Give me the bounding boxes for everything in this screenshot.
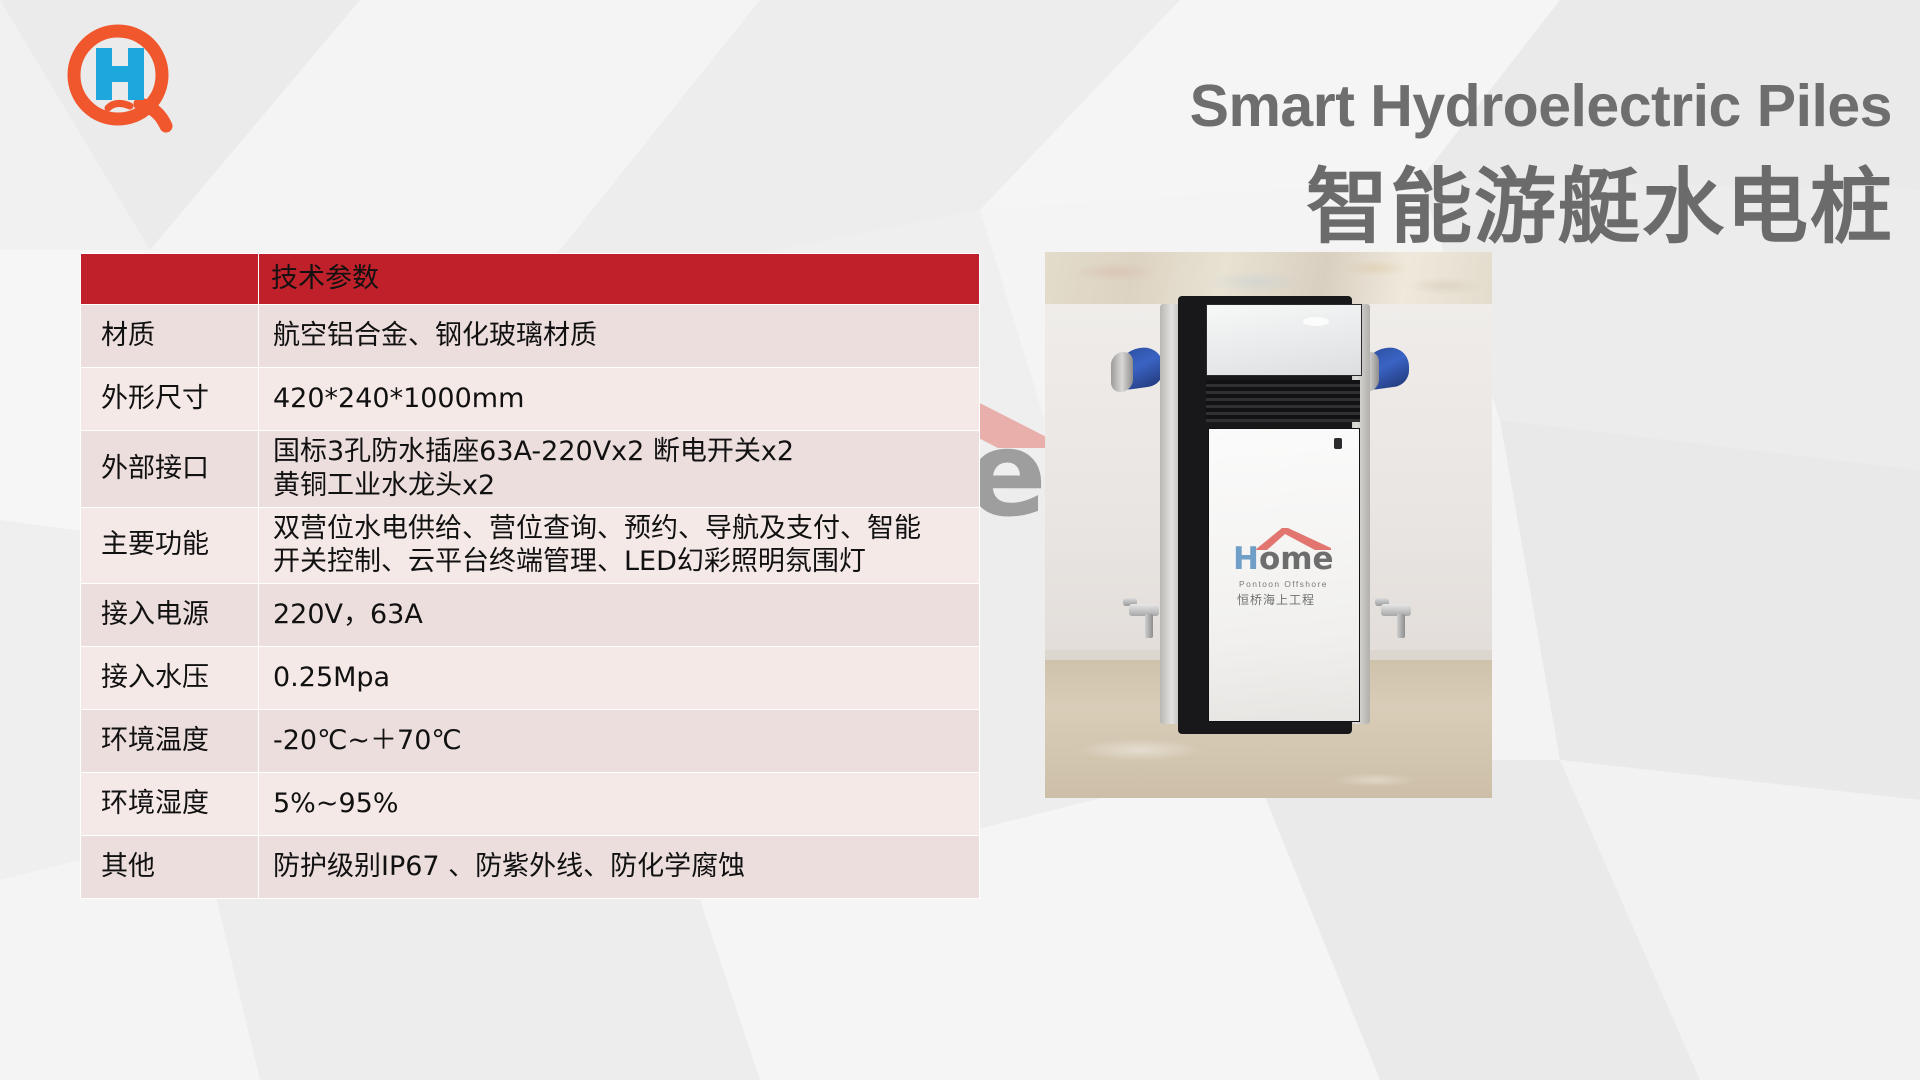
table-row: 主要功能双营位水电供给、营位查询、预约、导航及支付、智能 开关控制、云平台终端管… xyxy=(81,507,980,584)
pile-door-panel: Home Pontoon Offshore 恒桥海上工程 xyxy=(1208,428,1360,722)
table-cell-value-text: 国标3孔防水插座63A-220Vx2 断电开关x2 黄铜工业水龙头x2 xyxy=(273,436,794,501)
table-row: 外部接口国标3孔防水插座63A-220Vx2 断电开关x2 黄铜工业水龙头x2 xyxy=(81,431,980,508)
table-cell-key: 主要功能 xyxy=(81,507,259,584)
table-cell-key: 环境湿度 xyxy=(81,773,259,836)
table-row: 环境温度-20℃~＋70℃ xyxy=(81,710,980,773)
table-row: 其他防护级别IP67 、防紫外线、防化学腐蚀 xyxy=(81,836,980,899)
table-cell-value-text: 5%~95% xyxy=(273,788,398,819)
table-row: 环境湿度5%~95% xyxy=(81,773,980,836)
pile-logo-word: ome xyxy=(1259,541,1334,577)
pile-frame: Home Pontoon Offshore 恒桥海上工程 xyxy=(1178,296,1352,734)
table-cell-value-text: -20℃~＋70℃ xyxy=(273,725,462,756)
table-cell-key: 其他 xyxy=(81,836,259,899)
page-title-english: Smart Hydroelectric Piles xyxy=(1190,72,1892,140)
pile-vent-louvers xyxy=(1206,380,1360,422)
pile-door-lock xyxy=(1334,438,1342,449)
spec-table: 技术参数 材质航空铝合金、钢化玻璃材质外形尺寸420*240*1000mm外部接… xyxy=(80,253,980,899)
table-header-blank xyxy=(81,254,259,305)
table-cell-key: 接入水压 xyxy=(81,647,259,710)
table-cell-value-text: 0.25Mpa xyxy=(273,662,390,693)
table-cell-value: 防护级别IP67 、防紫外线、防化学腐蚀 xyxy=(259,836,980,899)
tap-spout xyxy=(1397,614,1405,638)
pile-logo-wordmark: Home xyxy=(1233,541,1334,577)
table-cell-value: 国标3孔防水插座63A-220Vx2 断电开关x2 黄铜工业水龙头x2 xyxy=(259,431,980,508)
photo-socket-left xyxy=(1117,348,1163,404)
hq-circle-logo xyxy=(52,18,192,143)
product-photo: Home Pontoon Offshore 恒桥海上工程 xyxy=(1045,252,1492,798)
table-header-row: 技术参数 xyxy=(81,254,980,305)
table-cell-value-text: 航空铝合金、钢化玻璃材质 xyxy=(273,320,597,351)
table-cell-value: 航空铝合金、钢化玻璃材质 xyxy=(259,305,980,368)
hydroelectric-pile: Home Pontoon Offshore 恒桥海上工程 xyxy=(1160,296,1370,738)
pile-logo-initial: H xyxy=(1233,541,1259,577)
socket-ring xyxy=(1111,350,1133,393)
table-cell-value: -20℃~＋70℃ xyxy=(259,710,980,773)
pile-logo-subtitle: Pontoon Offshore xyxy=(1239,579,1328,589)
photo-water-tap-right xyxy=(1375,604,1417,644)
table-cell-value-text: 220V，63A xyxy=(273,599,423,630)
table-cell-key: 外部接口 xyxy=(81,431,259,508)
table-body: 材质航空铝合金、钢化玻璃材质外形尺寸420*240*1000mm外部接口国标3孔… xyxy=(81,305,980,899)
table-row: 接入电源220V，63A xyxy=(81,584,980,647)
table-header-tech-params: 技术参数 xyxy=(259,254,980,305)
table-row: 材质航空铝合金、钢化玻璃材质 xyxy=(81,305,980,368)
table-cell-value: 0.25Mpa xyxy=(259,647,980,710)
table-row: 接入水压0.25Mpa xyxy=(81,647,980,710)
table-cell-value: 220V，63A xyxy=(259,584,980,647)
table-cell-value-text: 420*240*1000mm xyxy=(273,383,524,414)
table-cell-value: 双营位水电供给、营位查询、预约、导航及支付、智能 开关控制、云平台终端管理、LE… xyxy=(259,507,980,584)
table-cell-key: 环境温度 xyxy=(81,710,259,773)
table-row: 外形尺寸420*240*1000mm xyxy=(81,368,980,431)
pile-glass-panel xyxy=(1206,304,1362,376)
tap-spout xyxy=(1145,614,1153,638)
photo-water-tap-left xyxy=(1123,604,1165,644)
table-cell-key: 接入电源 xyxy=(81,584,259,647)
table-cell-value: 5%~95% xyxy=(259,773,980,836)
table-cell-key: 材质 xyxy=(81,305,259,368)
table-cell-value: 420*240*1000mm xyxy=(259,368,980,431)
pile-logo-subtitle-cn: 恒桥海上工程 xyxy=(1237,591,1315,608)
table-cell-value-text: 防护级别IP67 、防紫外线、防化学腐蚀 xyxy=(273,851,745,882)
page-title-chinese: 智能游艇水电桩 xyxy=(1306,140,1894,259)
table-cell-key: 外形尺寸 xyxy=(81,368,259,431)
tap-body xyxy=(1381,604,1411,616)
tap-body xyxy=(1129,604,1159,616)
table-cell-value-text: 双营位水电供给、营位查询、预约、导航及支付、智能 开关控制、云平台终端管理、LE… xyxy=(273,513,921,578)
